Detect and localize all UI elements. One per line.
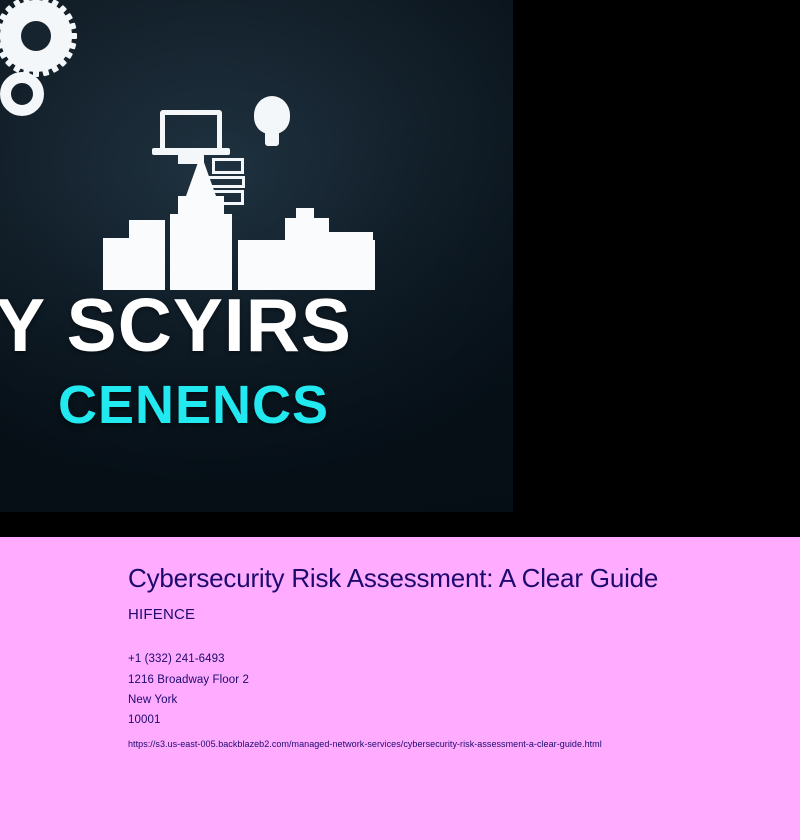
hero-image: NY SCYIRS CENENCS <box>0 0 513 512</box>
content-panel: Cybersecurity Risk Assessment: A Clear G… <box>0 537 800 840</box>
contact-block: +1 (332) 241-6493 1216 Broadway Floor 2 … <box>128 649 760 730</box>
city-skyline-icon <box>0 196 513 290</box>
page-root: NY SCYIRS CENENCS Cybersecurity Risk Ass… <box>0 0 800 840</box>
hero-icon-group <box>0 0 513 290</box>
ring-icon <box>0 72 44 116</box>
contact-city: New York <box>128 690 760 710</box>
lightbulb-base <box>265 130 279 146</box>
source-url[interactable]: https://s3.us-east-005.backblazeb2.com/m… <box>128 739 760 749</box>
contact-street: 1216 Broadway Floor 2 <box>128 670 760 690</box>
documents-icon <box>212 158 244 174</box>
page-title: Cybersecurity Risk Assessment: A Clear G… <box>128 563 728 593</box>
brand-name: HIFENCE <box>128 606 760 623</box>
contact-phone[interactable]: +1 (332) 241-6493 <box>128 649 760 669</box>
hero-subline: CENENCS <box>58 378 513 432</box>
gear-icon <box>0 0 72 72</box>
content-panel-inner: Cybersecurity Risk Assessment: A Clear G… <box>128 563 760 749</box>
lightbulb-icon <box>254 96 290 134</box>
contact-postal-code: 10001 <box>128 710 760 730</box>
hero-headline: NY SCYIRS <box>0 288 513 363</box>
